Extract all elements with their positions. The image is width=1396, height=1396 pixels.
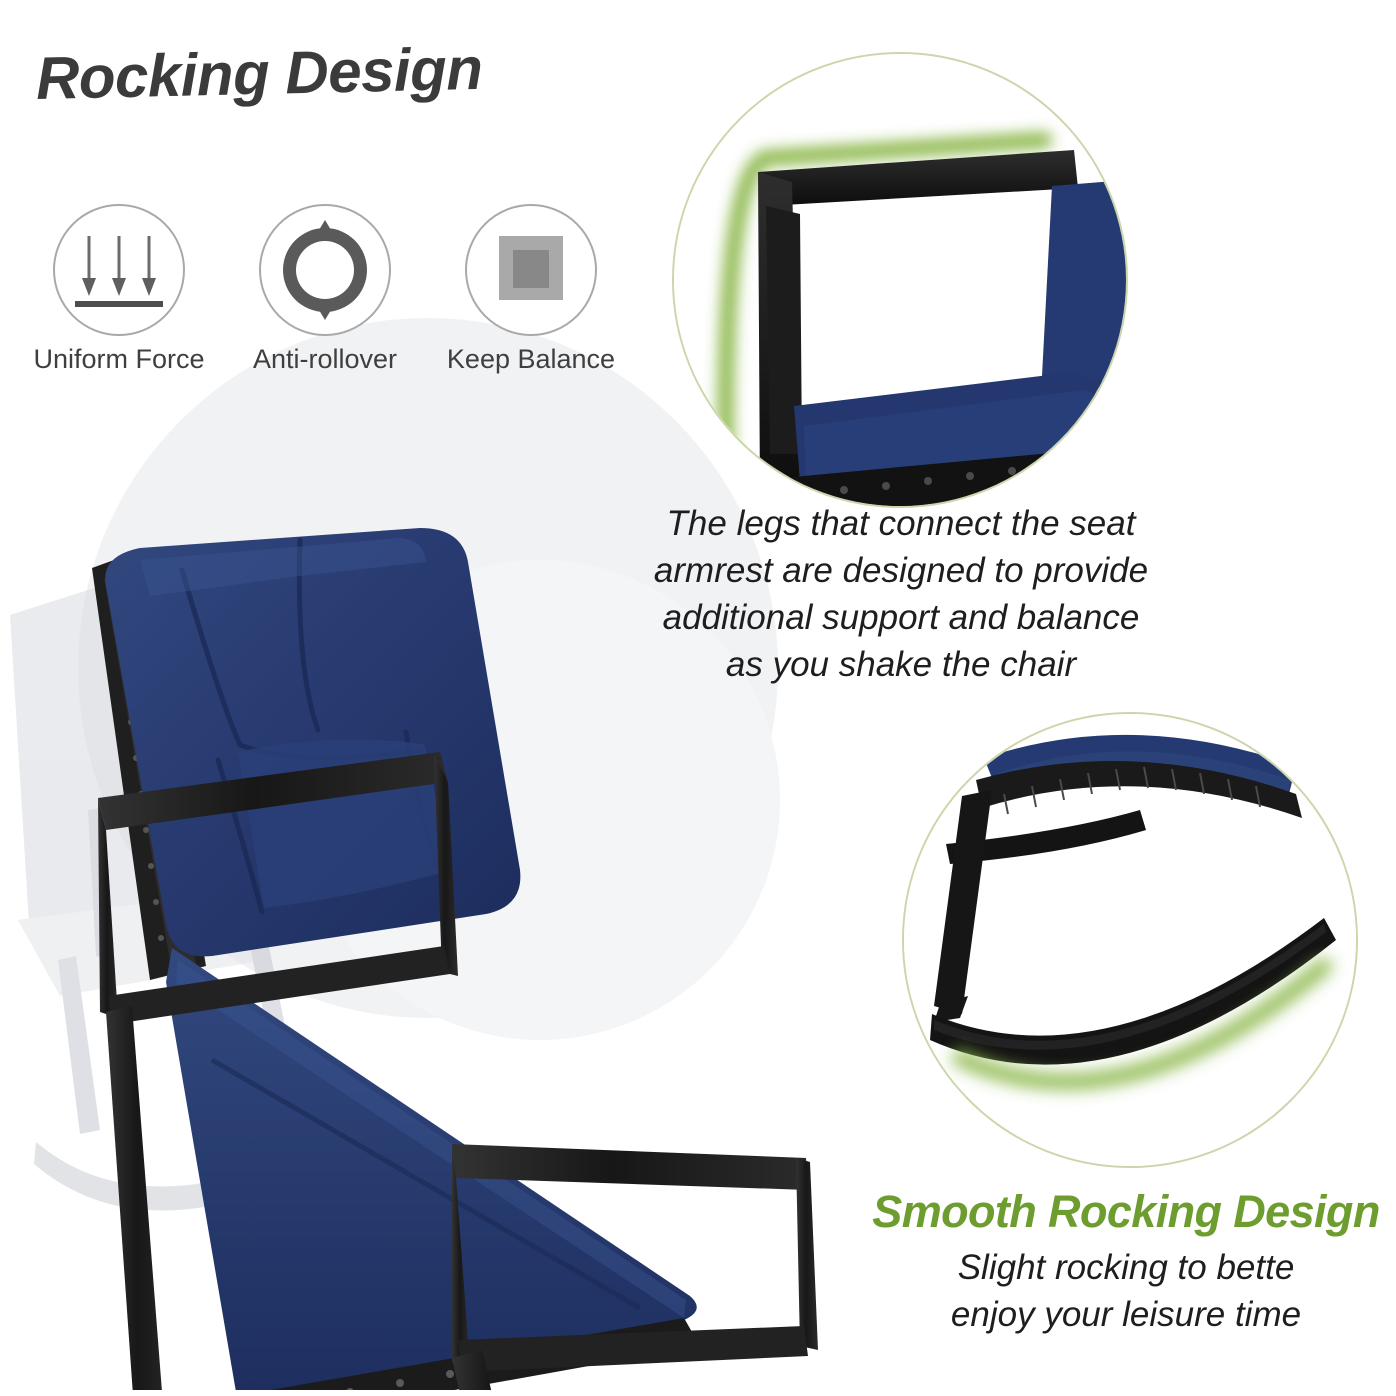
caption-line: armrest are designed to provide — [616, 547, 1186, 594]
smooth-rocking-heading: Smooth Rocking Design — [856, 1186, 1396, 1238]
feature-label: Uniform Force — [24, 344, 214, 375]
page-title: Rocking Design — [35, 34, 483, 113]
cushion-edge-right — [1042, 180, 1126, 394]
feature-keep-balance: Keep Balance — [436, 204, 626, 375]
circular-rotation-arrows-icon — [259, 204, 391, 336]
subcaption-line: enjoy your leisure time — [856, 1291, 1396, 1338]
inset-armrest-detail — [672, 52, 1128, 508]
smooth-rocking-subcaption: Slight rocking to bette enjoy your leisu… — [856, 1244, 1396, 1338]
downward-arrows-on-bar-icon — [53, 204, 185, 336]
caption-line: as you shake the chair — [616, 641, 1186, 688]
feature-anti-rollover: Anti-rollover — [230, 204, 420, 375]
nested-squares-icon — [465, 204, 597, 336]
caption-line: additional support and balance — [616, 594, 1186, 641]
feature-icon-row: Uniform Force Anti-rollover — [18, 204, 628, 394]
inset-rocker-detail — [902, 712, 1358, 1168]
center-caption: The legs that connect the seat armrest a… — [616, 500, 1186, 688]
infographic-page: Rocking Design — [0, 0, 1396, 1396]
feature-uniform-force: Uniform Force — [24, 204, 214, 375]
subcaption-line: Slight rocking to bette — [856, 1244, 1396, 1291]
smooth-rocking-block: Smooth Rocking Design Slight rocking to … — [856, 1186, 1396, 1338]
feature-label: Keep Balance — [436, 344, 626, 375]
caption-line: The legs that connect the seat — [616, 500, 1186, 547]
feature-label: Anti-rollover — [230, 344, 420, 375]
